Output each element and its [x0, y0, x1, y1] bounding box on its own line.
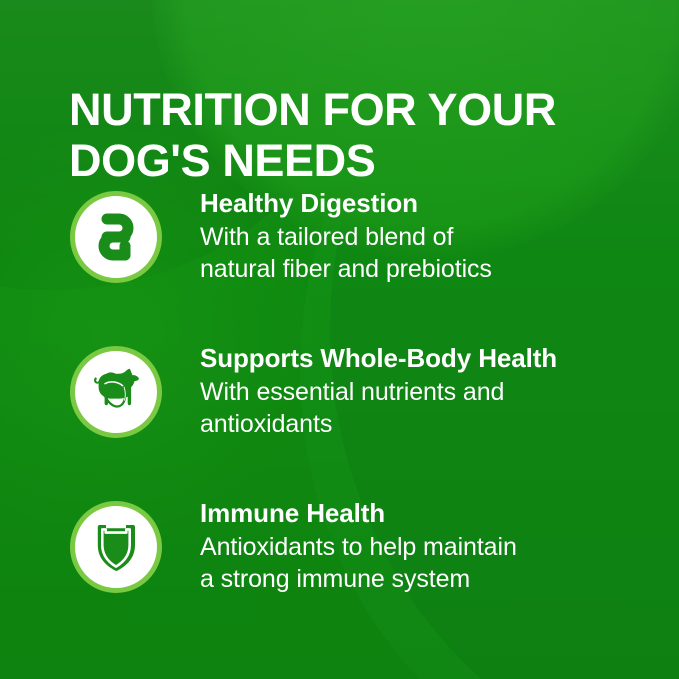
- list-item: Healthy Digestion With a tailored blend …: [0, 188, 679, 343]
- benefit-description: Antioxidants to help maintain a strong i…: [200, 531, 670, 595]
- benefit-text: Healthy Digestion With a tailored blend …: [200, 188, 670, 285]
- benefit-list: Healthy Digestion With a tailored blend …: [0, 188, 679, 653]
- shield-icon: [87, 516, 145, 578]
- page-title: Nutrition For Your Dog's Needs: [69, 84, 629, 186]
- benefit-icon-badge: [70, 501, 162, 593]
- benefit-icon-badge: [70, 191, 162, 283]
- benefit-title: Supports Whole-Body Health: [200, 343, 670, 374]
- benefit-icon-badge: [70, 346, 162, 438]
- benefit-text: Immune Health Antioxidants to help maint…: [200, 498, 670, 595]
- dog-orbit-icon: [84, 362, 148, 422]
- benefit-description: With essential nutrients and antioxidant…: [200, 376, 670, 440]
- poster-content: Nutrition For Your Dog's Needs Healthy D…: [0, 0, 679, 679]
- benefit-title: Immune Health: [200, 498, 670, 529]
- list-item: Supports Whole-Body Health With essentia…: [0, 343, 679, 498]
- nutrition-benefits-poster: Nutrition For Your Dog's Needs Healthy D…: [0, 0, 679, 679]
- list-item: Immune Health Antioxidants to help maint…: [0, 498, 679, 653]
- benefit-title: Healthy Digestion: [200, 188, 670, 219]
- intestine-icon: [85, 206, 147, 268]
- benefit-text: Supports Whole-Body Health With essentia…: [200, 343, 670, 440]
- benefit-description: With a tailored blend of natural fiber a…: [200, 221, 670, 285]
